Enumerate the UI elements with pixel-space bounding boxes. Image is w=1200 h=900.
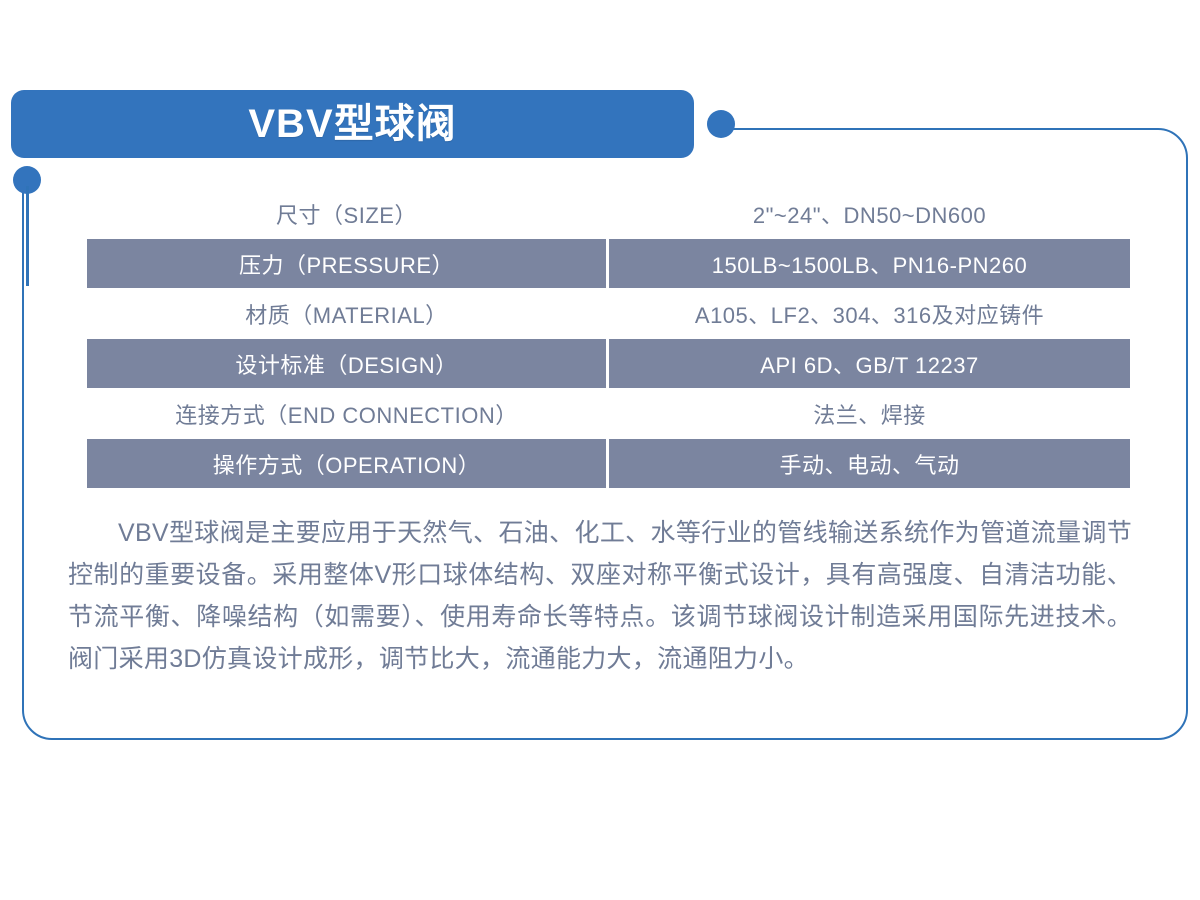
- spec-label: 操作方式（OPERATION）: [87, 439, 606, 488]
- spec-value: A105、LF2、304、316及对应铸件: [609, 289, 1130, 338]
- table-row: 操作方式（OPERATION） 手动、电动、气动: [87, 439, 1130, 488]
- spec-value: 法兰、焊接: [609, 389, 1130, 438]
- table-row: 连接方式（END CONNECTION） 法兰、焊接: [87, 389, 1130, 438]
- product-spec-card: VBV型球阀 尺寸（SIZE） 2"~24"、DN50~DN600 压力（PRE…: [0, 0, 1200, 900]
- spec-label: 连接方式（END CONNECTION）: [87, 389, 606, 438]
- spec-value: 2"~24"、DN50~DN600: [609, 189, 1130, 238]
- spec-value: 手动、电动、气动: [609, 439, 1130, 488]
- connector-line-vertical: [26, 186, 29, 286]
- page-title-bar: VBV型球阀: [11, 90, 694, 158]
- table-row: 设计标准（DESIGN） API 6D、GB/T 12237: [87, 339, 1130, 388]
- page-title: VBV型球阀: [248, 104, 456, 144]
- spec-label: 设计标准（DESIGN）: [87, 339, 606, 388]
- spec-label: 压力（PRESSURE）: [87, 239, 606, 288]
- table-row: 压力（PRESSURE） 150LB~1500LB、PN16-PN260: [87, 239, 1130, 288]
- connector-dot-right-icon: [707, 110, 735, 138]
- spec-value: 150LB~1500LB、PN16-PN260: [609, 239, 1130, 288]
- table-row: 材质（MATERIAL） A105、LF2、304、316及对应铸件: [87, 289, 1130, 338]
- product-description: VBV型球阀是主要应用于天然气、石油、化工、水等行业的管线输送系统作为管道流量调…: [68, 512, 1132, 680]
- spec-label: 材质（MATERIAL）: [87, 289, 606, 338]
- spec-value: API 6D、GB/T 12237: [609, 339, 1130, 388]
- spec-label: 尺寸（SIZE）: [87, 189, 606, 238]
- specification-table: 尺寸（SIZE） 2"~24"、DN50~DN600 压力（PRESSURE） …: [87, 189, 1130, 489]
- table-row: 尺寸（SIZE） 2"~24"、DN50~DN600: [87, 189, 1130, 238]
